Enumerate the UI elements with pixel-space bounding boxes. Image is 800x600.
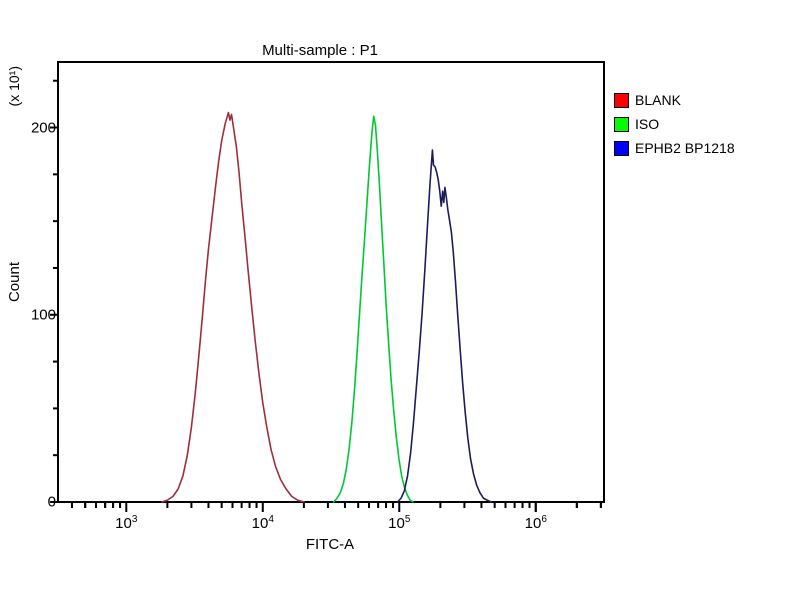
chart-title: Multi-sample : P1 <box>180 42 460 59</box>
x-tick-label: 103 <box>115 514 137 532</box>
series-curve <box>334 116 413 502</box>
legend-swatch-ephb2 <box>614 141 629 156</box>
legend: BLANK ISO EPHB2 BP1218 <box>614 88 735 160</box>
flow-cytometry-histogram: Multi-sample : P1 (x 10¹) Count FITC-A 0… <box>0 0 800 600</box>
x-tick-label: 104 <box>252 514 274 532</box>
legend-swatch-iso <box>614 117 629 132</box>
y-tick-label: 200 <box>16 119 56 136</box>
legend-item-iso[interactable]: ISO <box>614 112 735 136</box>
legend-label-ephb2: EPHB2 BP1218 <box>635 140 735 156</box>
x-tick-label: 106 <box>525 514 547 532</box>
histogram-curves <box>162 113 491 502</box>
legend-swatch-blank <box>614 93 629 108</box>
plot-frame <box>58 62 604 502</box>
legend-label-iso: ISO <box>635 116 659 132</box>
series-curve <box>162 113 304 502</box>
y-tick-label: 0 <box>16 494 56 511</box>
legend-item-blank[interactable]: BLANK <box>614 88 735 112</box>
legend-item-ephb2[interactable]: EPHB2 BP1218 <box>614 136 735 160</box>
y-axis-tick-labels: 0100200 <box>8 0 56 600</box>
y-tick-label: 100 <box>16 306 56 323</box>
x-tick-label: 105 <box>388 514 410 532</box>
axis-ticks <box>50 81 601 512</box>
series-curve <box>397 150 491 502</box>
x-axis-title: FITC-A <box>230 536 430 553</box>
legend-label-blank: BLANK <box>635 92 681 108</box>
